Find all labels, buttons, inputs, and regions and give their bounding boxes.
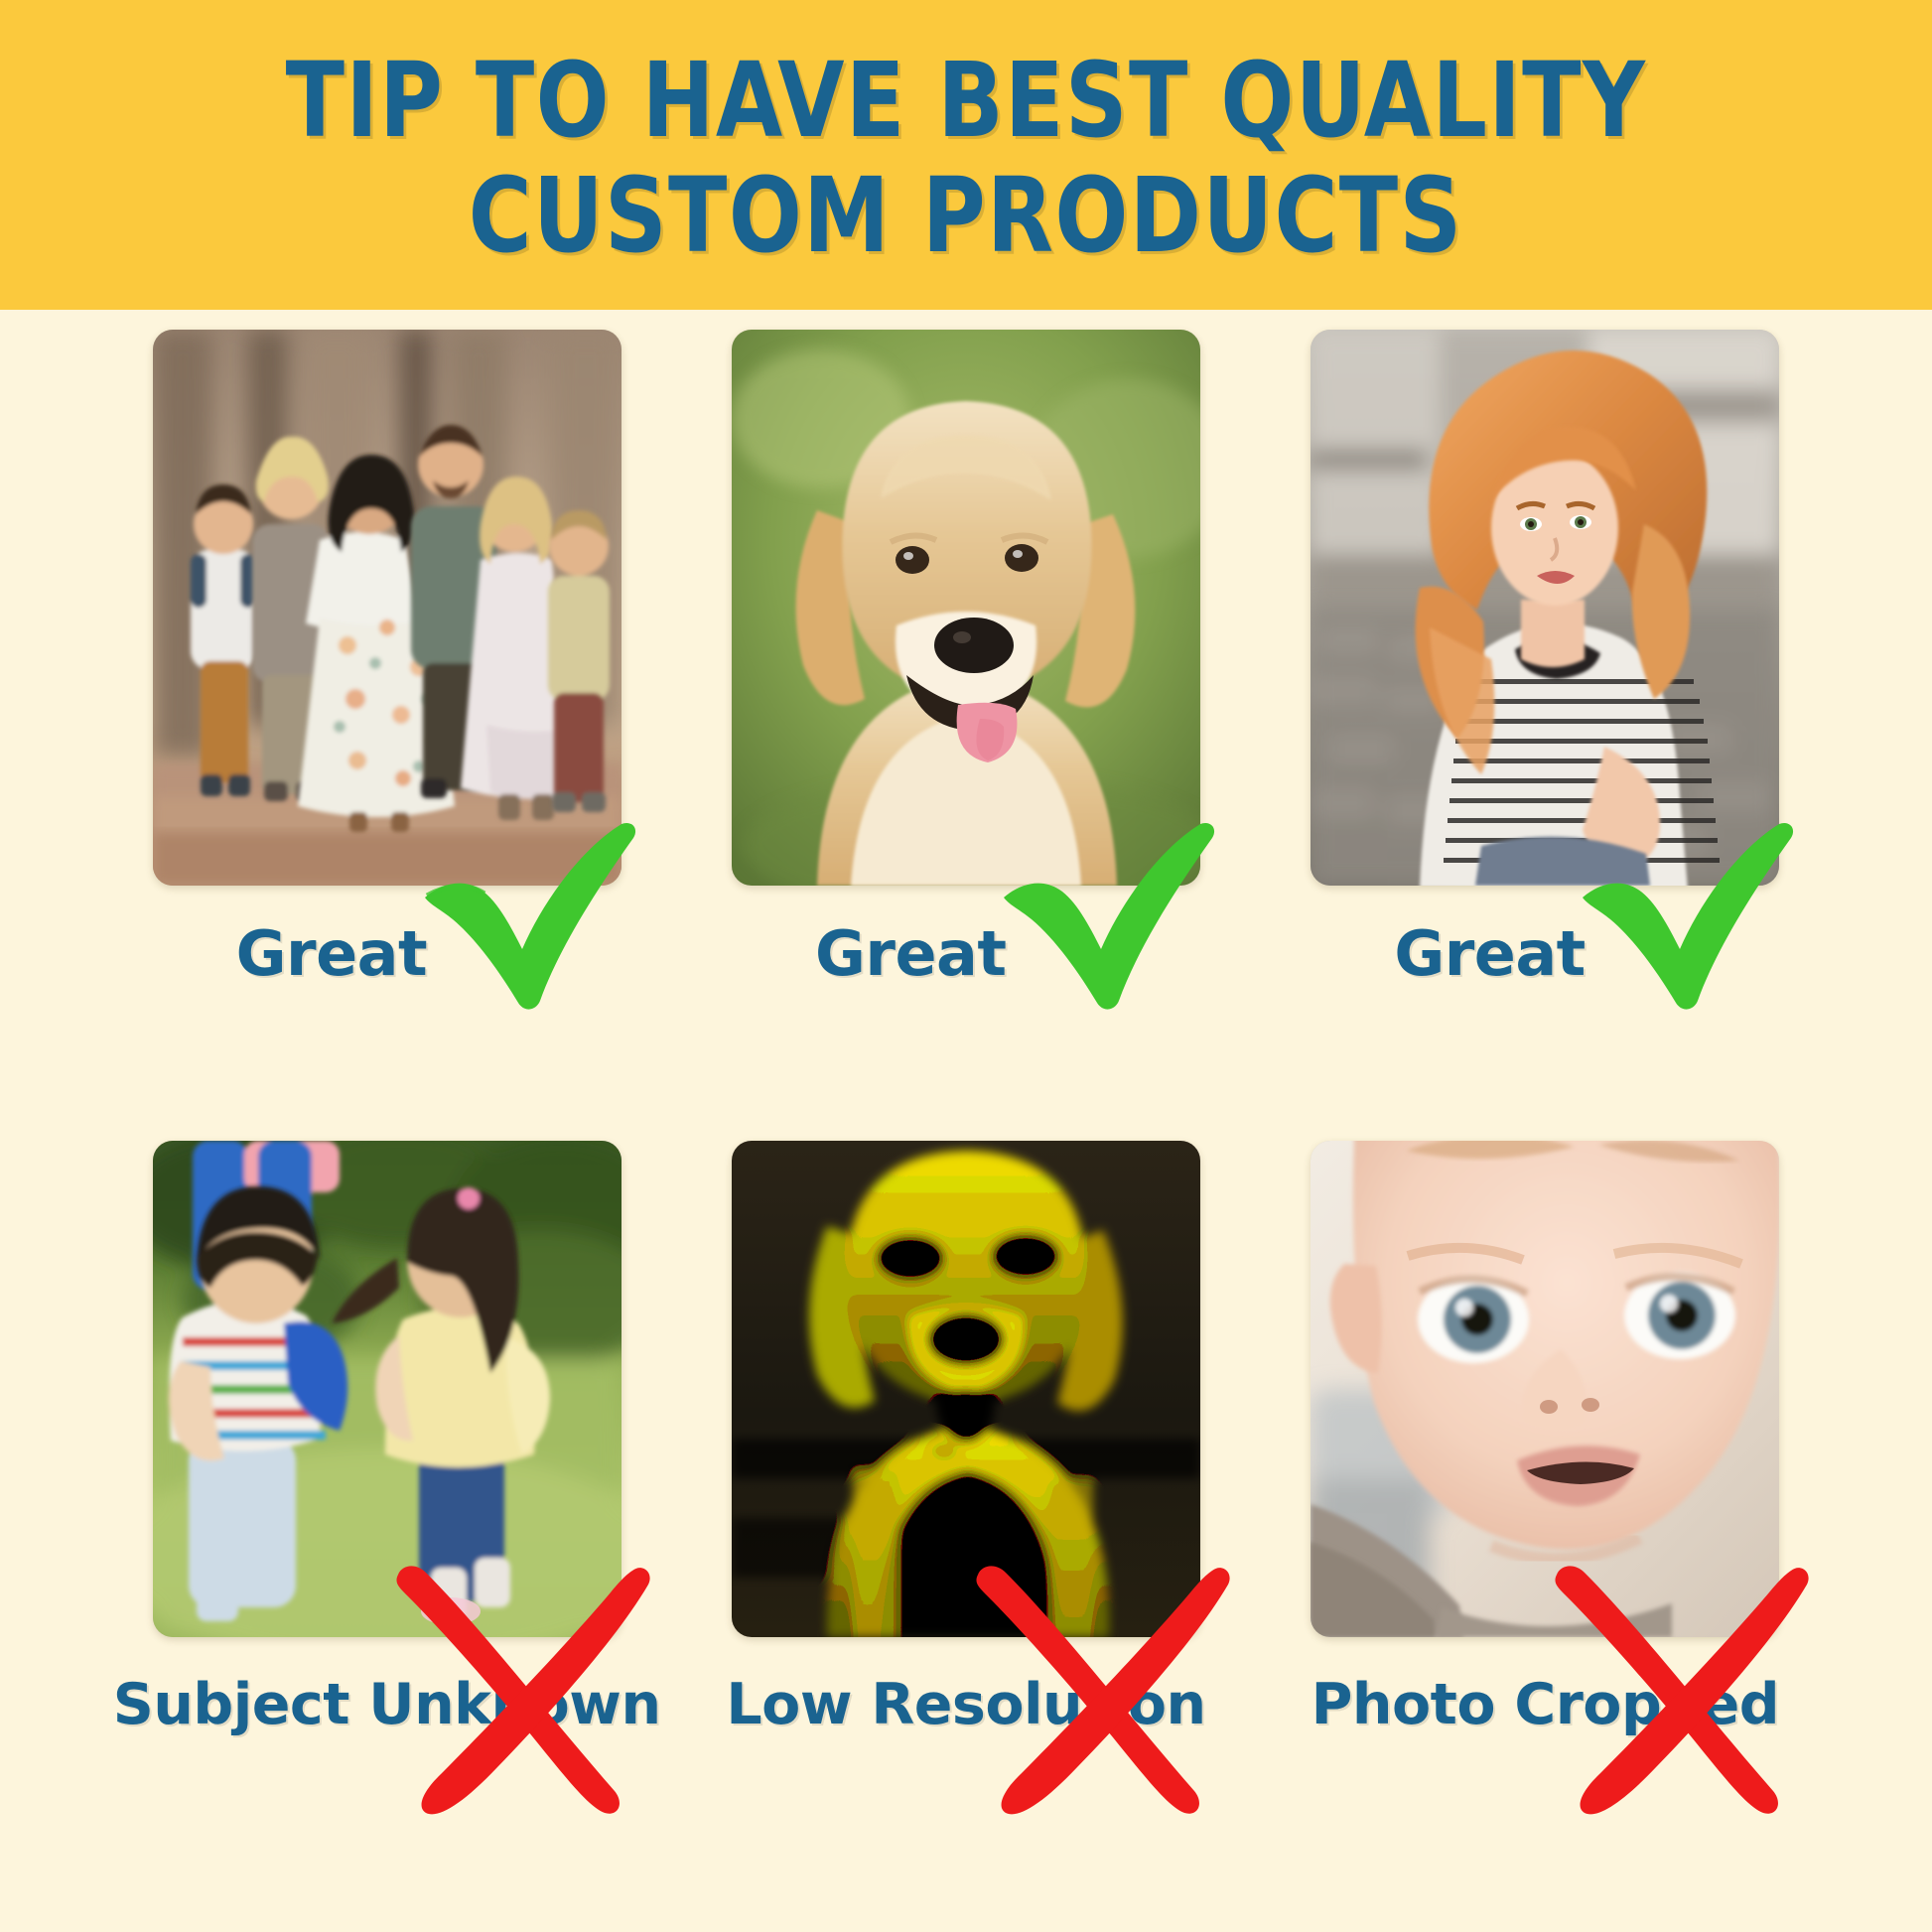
dog-caption-row: Great: [732, 899, 1200, 1007]
photo-cell-woman[interactable]: Great: [1256, 310, 1835, 1121]
lowres-caption: Low Resolution: [726, 1672, 1205, 1737]
dog-photo-art: [732, 330, 1200, 886]
photo-cell-family[interactable]: Great: [97, 310, 676, 1121]
photo-cell-dog[interactable]: Great: [676, 310, 1255, 1121]
family-photo-frame[interactable]: [153, 330, 621, 886]
woman-caption-row: Great: [1311, 899, 1779, 1007]
baby-photo-frame[interactable]: [1311, 1141, 1779, 1637]
baby-caption-row: Photo Cropped: [1311, 1651, 1779, 1758]
header-banner: TIP TO HAVE BEST QUALITY CUSTOM PRODUCTS: [0, 0, 1932, 310]
page-title-line-1: TIP TO HAVE BEST QUALITY: [286, 43, 1647, 158]
woman-photo-frame[interactable]: [1311, 330, 1779, 886]
kids-photo-art: [153, 1141, 621, 1637]
photo-cell-lowres-dog[interactable]: Low Resolution: [676, 1121, 1255, 1932]
photo-cell-baby[interactable]: Photo Cropped: [1256, 1121, 1835, 1932]
family-photo-art: [153, 330, 621, 886]
kids-caption: Subject Unknown: [113, 1672, 661, 1737]
photo-grid: Great: [0, 310, 1932, 1932]
baby-photo-art: [1311, 1141, 1779, 1637]
kids-photo-frame[interactable]: [153, 1141, 621, 1637]
kids-caption-row: Subject Unknown: [153, 1651, 621, 1758]
photo-cell-kids[interactable]: Subject Unknown: [97, 1121, 676, 1932]
lowres-dog-photo-art: [732, 1141, 1200, 1637]
woman-photo-art: [1311, 330, 1779, 886]
family-caption-row: Great: [153, 899, 621, 1007]
family-caption: Great: [236, 917, 428, 990]
baby-caption: Photo Cropped: [1311, 1672, 1779, 1737]
lowres-caption-row: Low Resolution: [732, 1651, 1200, 1758]
page-title-line-2: CUSTOM PRODUCTS: [469, 158, 1463, 273]
dog-caption: Great: [815, 917, 1007, 990]
lowres-dog-photo-frame[interactable]: [732, 1141, 1200, 1637]
dog-photo-frame[interactable]: [732, 330, 1200, 886]
woman-caption: Great: [1394, 917, 1586, 990]
